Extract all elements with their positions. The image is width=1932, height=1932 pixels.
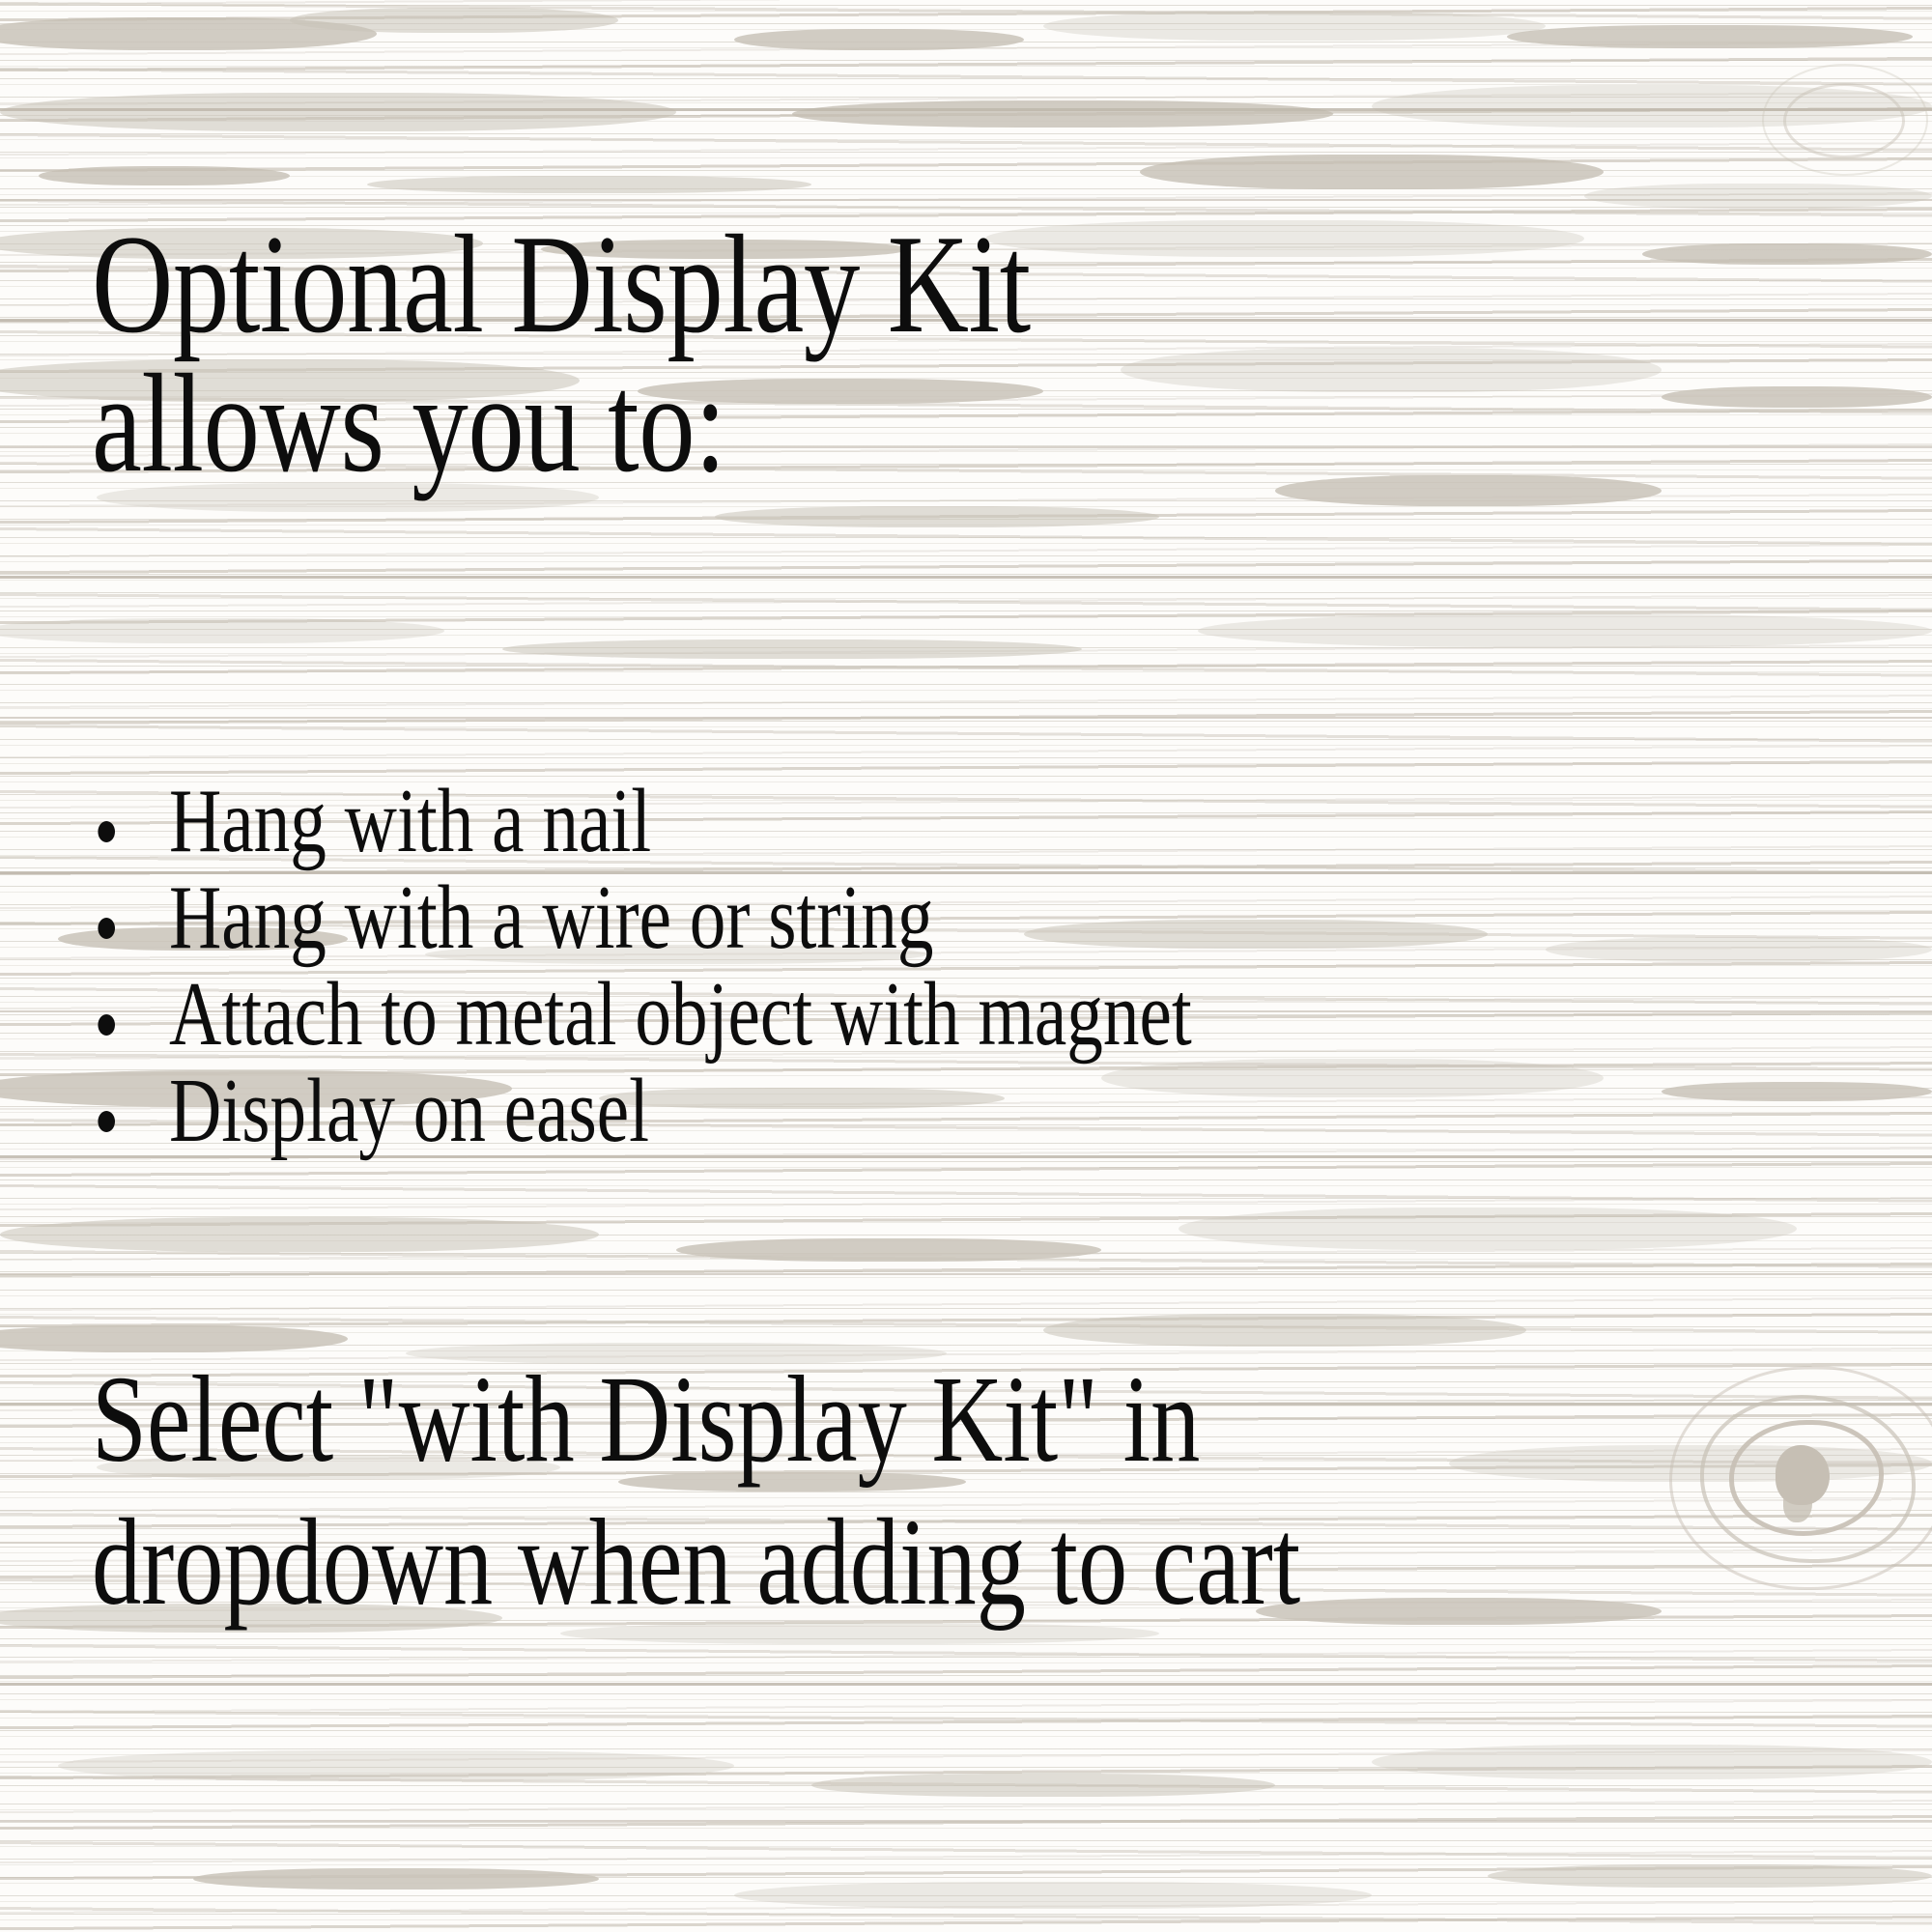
list-item-label: Display on easel: [169, 1061, 649, 1161]
list-item: Hang with a nail: [92, 773, 1521, 869]
list-item: Display on easel: [92, 1063, 1521, 1159]
list-item-label: Hang with a wire or string: [169, 867, 934, 968]
list-item: Hang with a wire or string: [92, 869, 1521, 966]
bullet-dot-icon: [98, 1014, 115, 1036]
headline-line-2: allows you to:: [92, 354, 1506, 493]
list-item-label: Hang with a nail: [169, 771, 651, 871]
bullet-dot-icon: [98, 821, 115, 842]
list-item-label: Attach to metal object with magnet: [169, 964, 1192, 1065]
list-item: Attach to metal object with magnet: [92, 966, 1521, 1063]
page-title: Optional Display Kit allows you to:: [92, 214, 1506, 493]
closing-line-1: Select "with Display Kit" in: [92, 1348, 1545, 1491]
bullet-dot-icon: [98, 918, 115, 939]
bullet-dot-icon: [98, 1111, 115, 1132]
headline-line-1: Optional Display Kit: [92, 214, 1506, 354]
product-info-graphic: Optional Display Kit allows you to: Hang…: [0, 0, 1932, 1932]
closing-line-2: dropdown when adding to cart: [92, 1491, 1545, 1634]
closing-instruction: Select "with Display Kit" in dropdown wh…: [92, 1348, 1545, 1634]
display-kit-feature-list: Hang with a nail Hang with a wire or str…: [92, 773, 1879, 1159]
text-content: Optional Display Kit allows you to: Hang…: [0, 0, 1932, 1932]
